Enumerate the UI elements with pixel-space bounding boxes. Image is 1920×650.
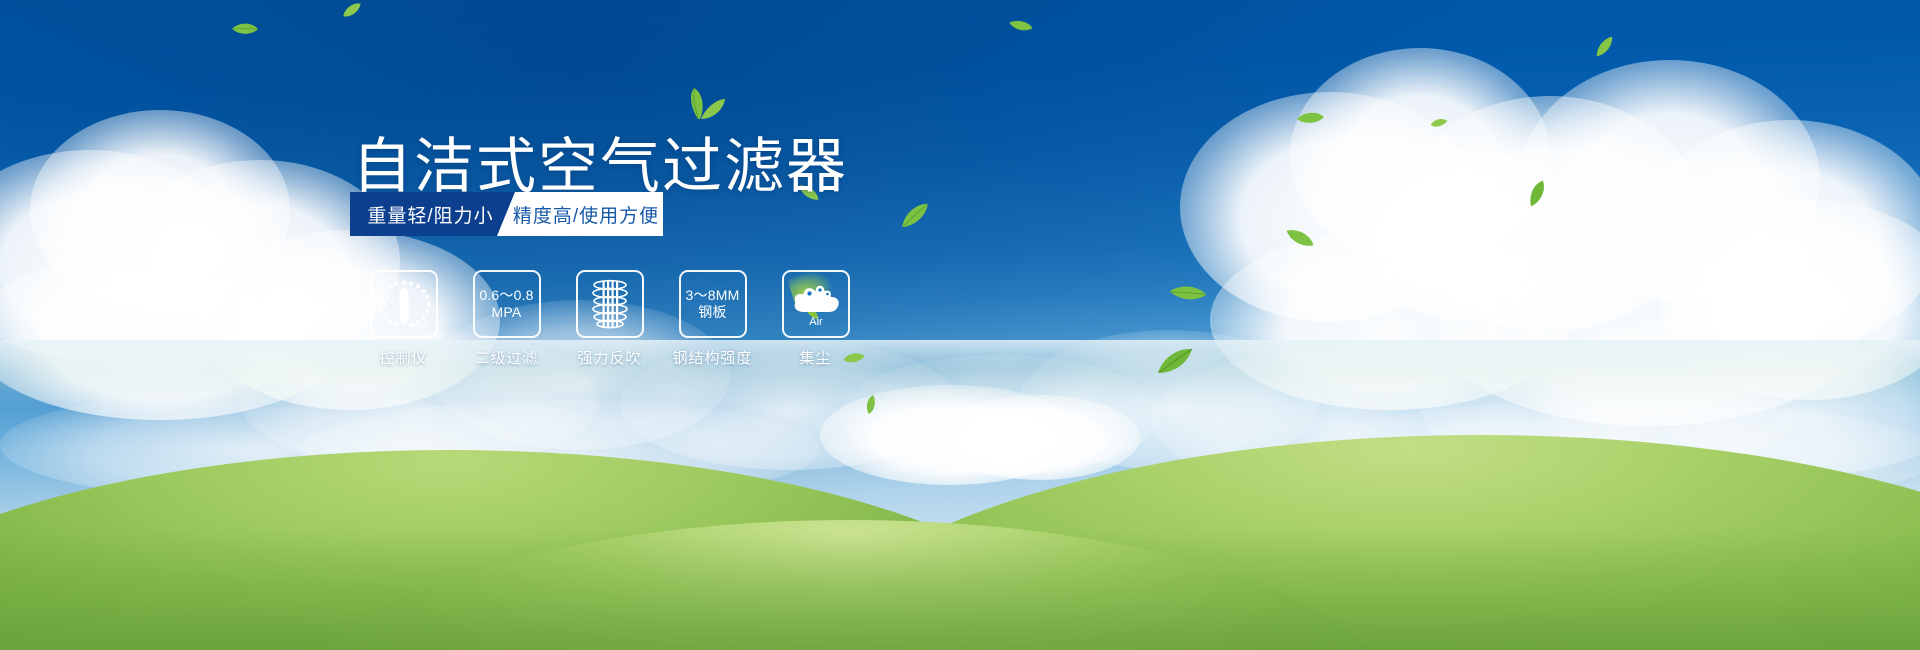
svg-text:OFF: OFF bbox=[415, 323, 428, 330]
filter-cartridge-icon bbox=[585, 278, 635, 330]
dust-cloud-icon: Air bbox=[787, 279, 845, 329]
feature-label: 钢结构强度 bbox=[672, 347, 752, 368]
feature-item-pressure[interactable]: 0.6～0.8 MPA 二级过滤 bbox=[455, 270, 558, 368]
feature-item-dust[interactable]: Air 集尘 bbox=[764, 270, 867, 368]
feature-item-backblow[interactable]: 强力反吹 bbox=[558, 270, 661, 368]
feature-icon-box: 3～8MM 钢板 bbox=[679, 270, 747, 338]
feature-icon-box: NO OFF bbox=[370, 270, 438, 338]
steel-plate-text-icon: 3～8MM 钢板 bbox=[686, 287, 740, 321]
feature-label: 集尘 bbox=[799, 347, 831, 368]
air-text: Air bbox=[809, 316, 823, 328]
promo-banner: 自洁式空气过滤器 重量轻/阻力小 精度高/使用方便 bbox=[0, 0, 1920, 650]
feature-icon-box: 0.6～0.8 MPA bbox=[473, 270, 541, 338]
control-dial-icon: NO OFF bbox=[373, 275, 435, 333]
feature-icon-box bbox=[576, 270, 644, 338]
feature-label: 二级过滤 bbox=[474, 347, 538, 368]
feature-list: NO OFF 控制仪 0.6～0.8 MPA 二级过滤 bbox=[352, 270, 867, 368]
tab-weight-resistance[interactable]: 重量轻/阻力小 bbox=[350, 192, 515, 236]
tab-group: 重量轻/阻力小 精度高/使用方便 bbox=[350, 192, 663, 236]
feature-label: 控制仪 bbox=[379, 347, 427, 368]
feature-icon-box: Air bbox=[782, 270, 850, 338]
pressure-text-icon: 0.6～0.8 MPA bbox=[479, 287, 533, 321]
feature-item-steel[interactable]: 3～8MM 钢板 钢结构强度 bbox=[661, 270, 764, 368]
tab-precision-usability[interactable]: 精度高/使用方便 bbox=[497, 192, 663, 236]
svg-text:NO: NO bbox=[375, 300, 386, 309]
feature-item-controller[interactable]: NO OFF 控制仪 bbox=[352, 270, 455, 368]
feature-label: 强力反吹 bbox=[577, 347, 641, 368]
